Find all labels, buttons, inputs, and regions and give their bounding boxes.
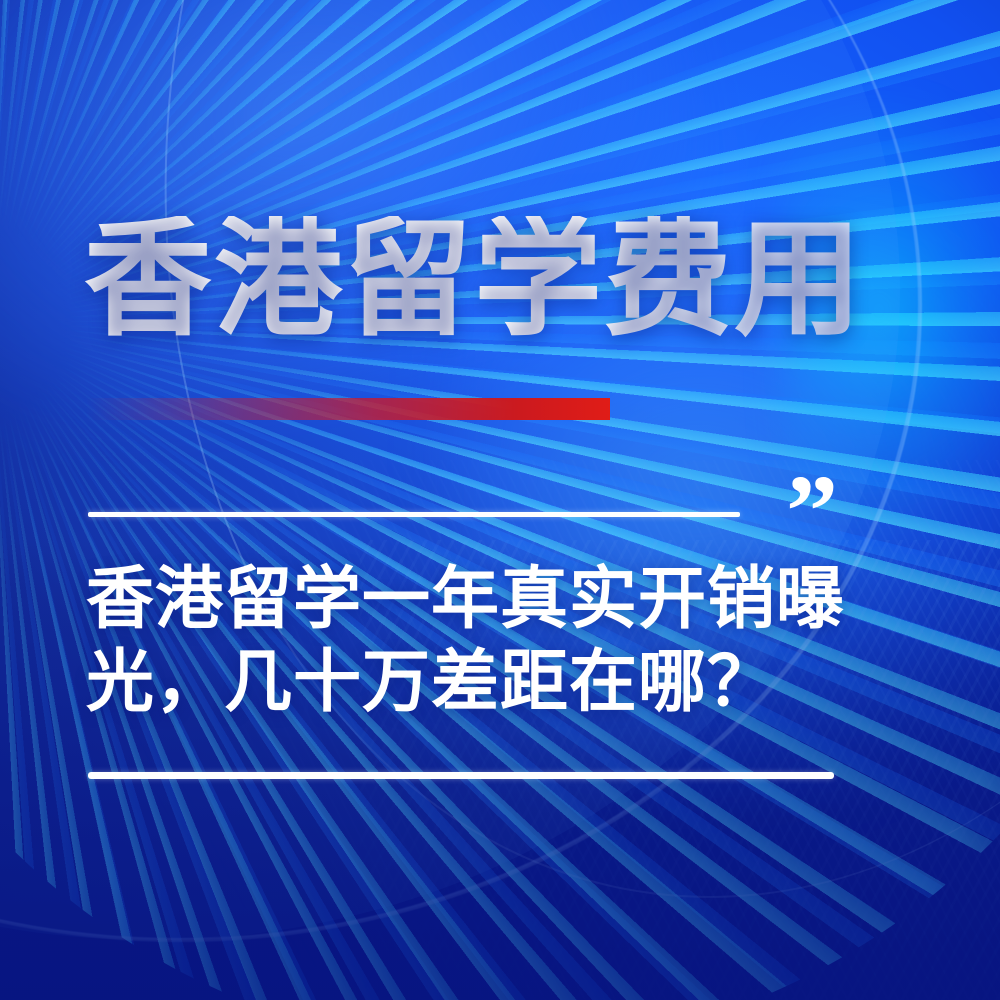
divider-rule-top <box>88 512 740 517</box>
page-title: 香港留学费用 <box>84 216 864 344</box>
poster-canvas: 香港留学费用 ” 香港留学一年真实开销曝 光，几十万差距在哪？ <box>0 0 1000 1000</box>
quotation-mark-icon: ” <box>786 460 836 564</box>
subtitle-block: 香港留学一年真实开销曝 光，几十万差距在哪？ <box>86 558 926 724</box>
subtitle-line-2: 光，几十万差距在哪？ <box>86 641 926 724</box>
subtitle-line-1: 香港留学一年真实开销曝 <box>86 558 926 641</box>
poster-content: 香港留学费用 ” 香港留学一年真实开销曝 光，几十万差距在哪？ <box>0 0 1000 1000</box>
accent-bar <box>86 398 610 420</box>
divider-rule-bottom <box>88 772 834 779</box>
